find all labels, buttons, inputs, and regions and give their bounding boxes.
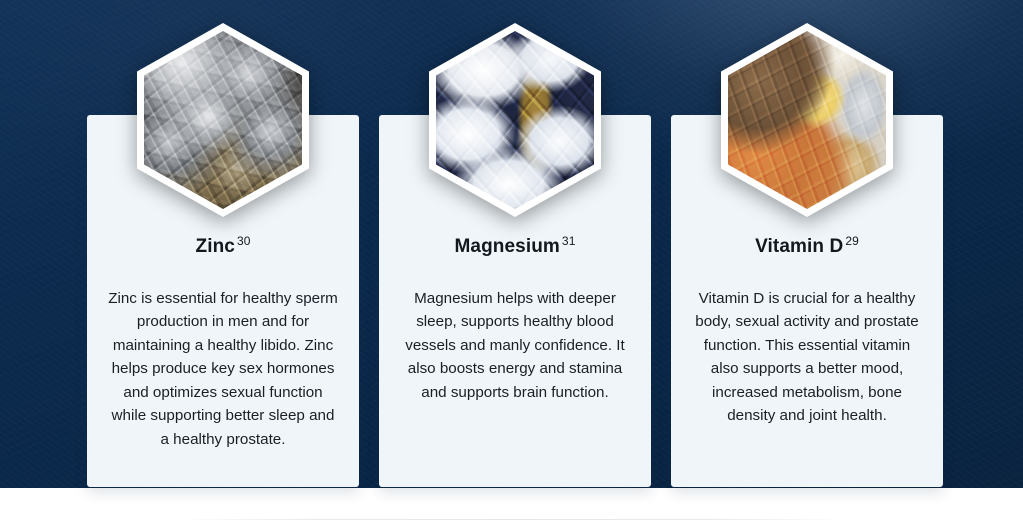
card-title-zinc: Zinc30 [107, 237, 339, 258]
card-title-magnesium: Magnesium31 [399, 237, 631, 258]
nutrient-card-zinc[interactable]: Zinc30 Zinc is essential for healthy spe… [87, 115, 359, 487]
section-divider [176, 519, 848, 520]
card-reference-number: 30 [237, 234, 251, 248]
card-title-text: Vitamin D [755, 236, 843, 257]
card-reference-number: 29 [845, 234, 859, 248]
card-title-text: Magnesium [455, 236, 560, 257]
card-body-zinc: Zinc is essential for healthy sperm prod… [107, 287, 339, 452]
vitamin-d-hexagon-image [721, 23, 893, 217]
page-stage: Zinc30 Zinc is essential for healthy spe… [0, 0, 1023, 527]
nutrient-card-row: Zinc30 Zinc is essential for healthy spe… [87, 115, 943, 487]
zinc-hexagon-image [137, 23, 309, 217]
card-reference-number: 31 [562, 234, 576, 248]
nutrient-card-vitamin-d[interactable]: Vitamin D29 Vitamin D is crucial for a h… [671, 115, 943, 487]
card-body-magnesium: Magnesium helps with deeper sleep, suppo… [399, 287, 631, 405]
magnesium-hexagon-image [429, 23, 601, 217]
card-title-text: Zinc [195, 236, 234, 257]
card-body-vitamin-d: Vitamin D is crucial for a healthy body,… [691, 287, 923, 428]
nutrient-card-magnesium[interactable]: Magnesium31 Magnesium helps with deeper … [379, 115, 651, 487]
card-title-vitamin-d: Vitamin D29 [691, 237, 923, 258]
